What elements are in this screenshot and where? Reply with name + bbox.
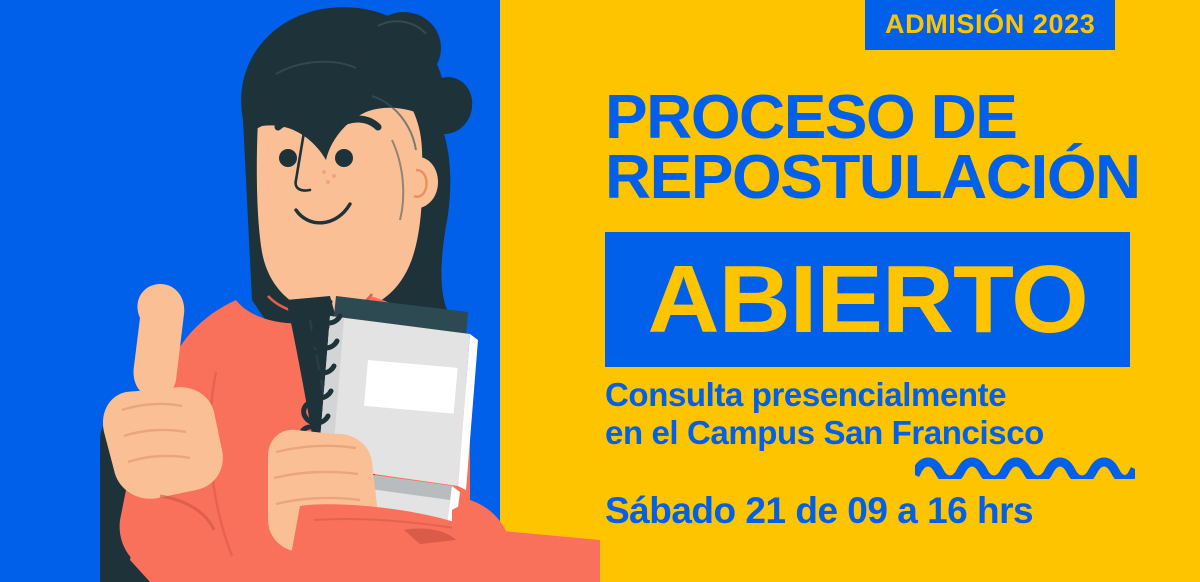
admission-badge: ADMISIÓN 2023 [865,0,1115,50]
sleeve-end [452,500,513,582]
headline-block: PROCESO DE REPOSTULACIÓN [605,88,1135,207]
promo-banner: ADMISIÓN 2023 PROCESO DE REPOSTULACIÓN A… [0,0,1200,582]
subtitle-block: Consulta presencialmente en el Campus Sa… [605,376,1145,453]
admission-badge-label: ADMISIÓN 2023 [885,11,1095,38]
headline-line-1: PROCESO DE [605,88,1151,148]
dateline-text: Sábado 21 de 09 a 16 hrs [605,492,1145,529]
wavy-underline-icon [915,455,1135,479]
content-column: ADMISIÓN 2023 PROCESO DE REPOSTULACIÓN A… [605,0,1165,582]
status-highlight-label: ABIERTO [647,252,1087,348]
subtitle-line-1: Consulta presencialmente [605,376,1145,414]
dateline-block: Sábado 21 de 09 a 16 hrs [605,492,1145,529]
subtitle-line-2: en el Campus San Francisco [605,414,1145,452]
student-illustration [0,0,600,582]
headline-line-2: REPOSTULACIÓN [605,148,1151,208]
status-highlight-box: ABIERTO [605,232,1130,367]
